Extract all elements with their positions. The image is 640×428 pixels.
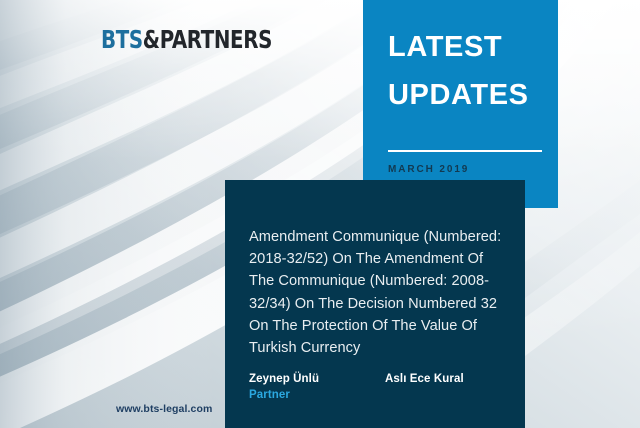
- banner-heading-line-1: LATEST: [388, 33, 502, 62]
- article-title: Amendment Communique (Numbered: 2018-32/…: [249, 226, 511, 359]
- author-entry: Zeynep Ünlü Partner: [249, 372, 319, 403]
- logo-ampersand-icon: &: [143, 25, 160, 54]
- article-panel: Amendment Communique (Numbered: 2018-32/…: [225, 180, 525, 428]
- banner-date: MARCH 2019: [388, 164, 469, 175]
- logo-text-partners: PARTNERS: [160, 25, 272, 54]
- banner-heading-line-2: UPDATES: [388, 81, 529, 110]
- banner-divider: [388, 150, 542, 152]
- company-logo: BTS&PARTNERS: [101, 27, 272, 52]
- author-name: Zeynep Ünlü: [249, 372, 319, 388]
- newsletter-poster: BTS&PARTNERS LATEST UPDATES MARCH 2019 A…: [0, 0, 640, 428]
- latest-updates-banner: LATEST UPDATES MARCH 2019: [363, 0, 558, 208]
- logo-text-bts: BTS: [101, 25, 143, 54]
- website-url[interactable]: www.bts-legal.com: [116, 403, 212, 415]
- author-role: Partner: [249, 388, 319, 404]
- author-name: Aslı Ece Kural: [385, 372, 464, 388]
- author-role: [385, 388, 464, 403]
- author-entry: Aslı Ece Kural: [385, 372, 464, 403]
